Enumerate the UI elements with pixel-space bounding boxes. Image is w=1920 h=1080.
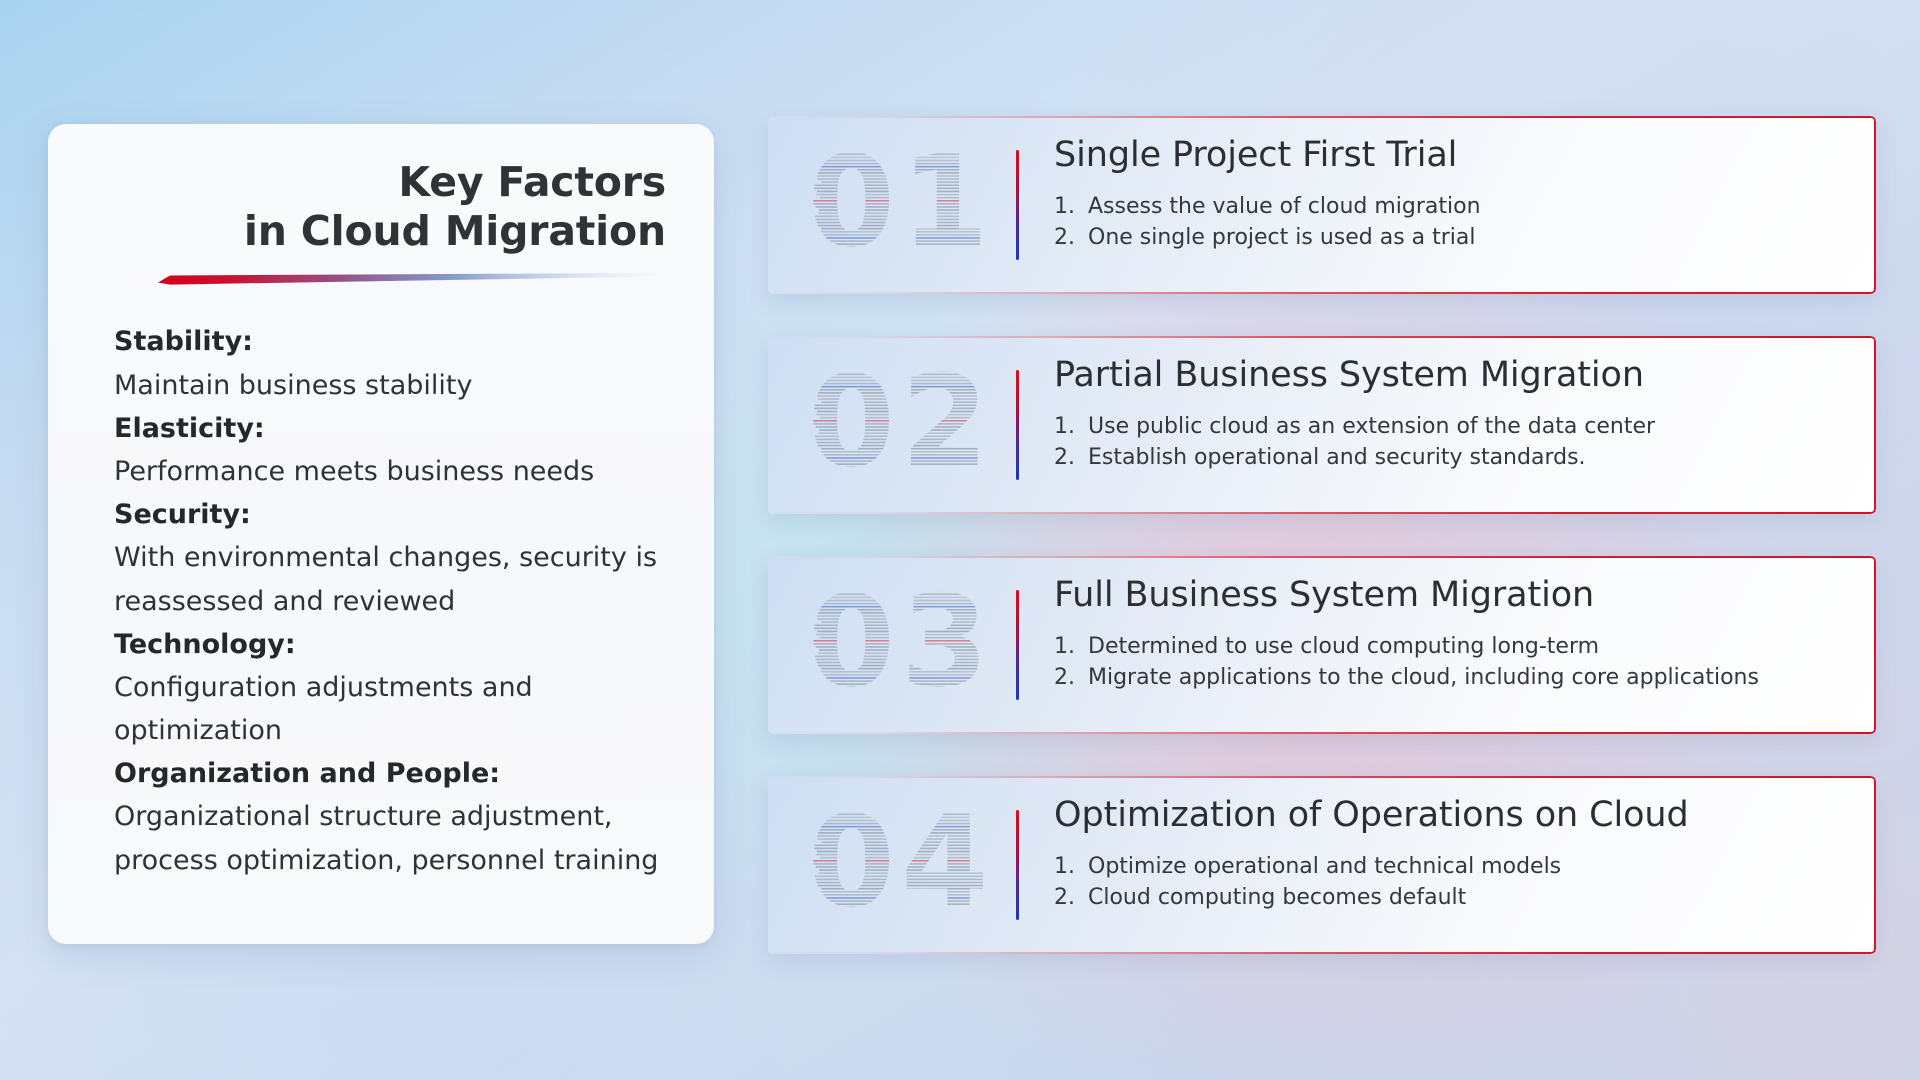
list-item: 2. Cloud computing becomes default <box>1054 883 1850 914</box>
factor-description: Maintain business stability <box>114 364 680 407</box>
list-item-text: Assess the value of cloud migration <box>1088 192 1481 223</box>
step-item-list: 1. Determined to use cloud computing lon… <box>1054 632 1850 694</box>
factor-item: Technology: Configuration adjustments an… <box>114 623 680 753</box>
factor-label: Security: <box>114 493 680 536</box>
step-title: Single Project First Trial <box>1054 134 1850 178</box>
step-card-01[interactable]: 01 Single Project First Trial 1. Assess … <box>768 116 1876 294</box>
factor-label: Organization and People: <box>114 752 680 795</box>
list-item-number: 2. <box>1054 443 1088 474</box>
step-card-02[interactable]: 02 Partial Business System Migration 1. … <box>768 336 1876 514</box>
step-accent-divider <box>1016 150 1019 260</box>
factor-item: Organization and People: Organizational … <box>114 752 680 882</box>
step-card-04[interactable]: 04 Optimization of Operations on Cloud 1… <box>768 776 1876 954</box>
step-number-02-icon: 02 <box>810 358 992 492</box>
factor-item: Elasticity: Performance meets business n… <box>114 407 680 493</box>
list-item: 1. Determined to use cloud computing lon… <box>1054 632 1850 663</box>
step-item-list: 1. Assess the value of cloud migration 2… <box>1054 192 1850 254</box>
step-accent-divider <box>1016 370 1019 480</box>
key-factors-panel: Key Factors in Cloud Migration Stability… <box>48 124 714 944</box>
step-number-03-icon: 03 <box>810 578 992 712</box>
list-item-number: 2. <box>1054 883 1088 914</box>
step-title: Optimization of Operations on Cloud <box>1054 794 1850 838</box>
factor-item: Stability: Maintain business stability <box>114 320 680 406</box>
factor-label: Elasticity: <box>114 407 680 450</box>
list-item-text: Cloud computing becomes default <box>1088 883 1466 914</box>
list-item: 1. Assess the value of cloud migration <box>1054 192 1850 223</box>
step-title: Partial Business System Migration <box>1054 354 1850 398</box>
step-number-04-icon: 04 <box>810 798 992 932</box>
step-title: Full Business System Migration <box>1054 574 1850 618</box>
page-title: Key Factors in Cloud Migration <box>82 158 680 256</box>
list-item-text: Optimize operational and technical model… <box>1088 852 1561 883</box>
page-title-line-2: in Cloud Migration <box>244 207 666 255</box>
list-item-number: 1. <box>1054 852 1088 883</box>
step-item-list: 1. Optimize operational and technical mo… <box>1054 852 1850 914</box>
list-item-number: 1. <box>1054 412 1088 443</box>
factor-item: Security: With environmental changes, se… <box>114 493 680 623</box>
list-item-number: 2. <box>1054 223 1088 254</box>
factor-description: Configuration adjustments and optimizati… <box>114 666 680 752</box>
step-card-03[interactable]: 03 Full Business System Migration 1. Det… <box>768 556 1876 734</box>
list-item-text: Establish operational and security stand… <box>1088 443 1586 474</box>
list-item-number: 2. <box>1054 663 1088 694</box>
factor-label: Technology: <box>114 623 680 666</box>
list-item-number: 1. <box>1054 192 1088 223</box>
factor-label: Stability: <box>114 320 680 363</box>
step-accent-divider <box>1016 590 1019 700</box>
list-item-text: One single project is used as a trial <box>1088 223 1476 254</box>
list-item-text: Determined to use cloud computing long-t… <box>1088 632 1599 663</box>
step-item-list: 1. Use public cloud as an extension of t… <box>1054 412 1850 474</box>
list-item: 2. One single project is used as a trial <box>1054 223 1850 254</box>
list-item-text: Migrate applications to the cloud, inclu… <box>1088 663 1759 694</box>
title-gradient-rule <box>158 270 674 286</box>
list-item: 1. Use public cloud as an extension of t… <box>1054 412 1850 443</box>
factor-description: With environmental changes, security is … <box>114 536 680 622</box>
list-item: 2. Establish operational and security st… <box>1054 443 1850 474</box>
step-number-01-icon: 01 <box>810 138 992 272</box>
step-accent-divider <box>1016 810 1019 920</box>
list-item: 1. Optimize operational and technical mo… <box>1054 852 1850 883</box>
list-item-text: Use public cloud as an extension of the … <box>1088 412 1655 443</box>
list-item: 2. Migrate applications to the cloud, in… <box>1054 663 1850 694</box>
page-title-line-1: Key Factors <box>398 158 666 206</box>
factor-description: Organizational structure adjustment, pro… <box>114 795 680 881</box>
factor-list: Stability: Maintain business stability E… <box>82 320 680 881</box>
list-item-number: 1. <box>1054 632 1088 663</box>
factor-description: Performance meets business needs <box>114 450 680 493</box>
